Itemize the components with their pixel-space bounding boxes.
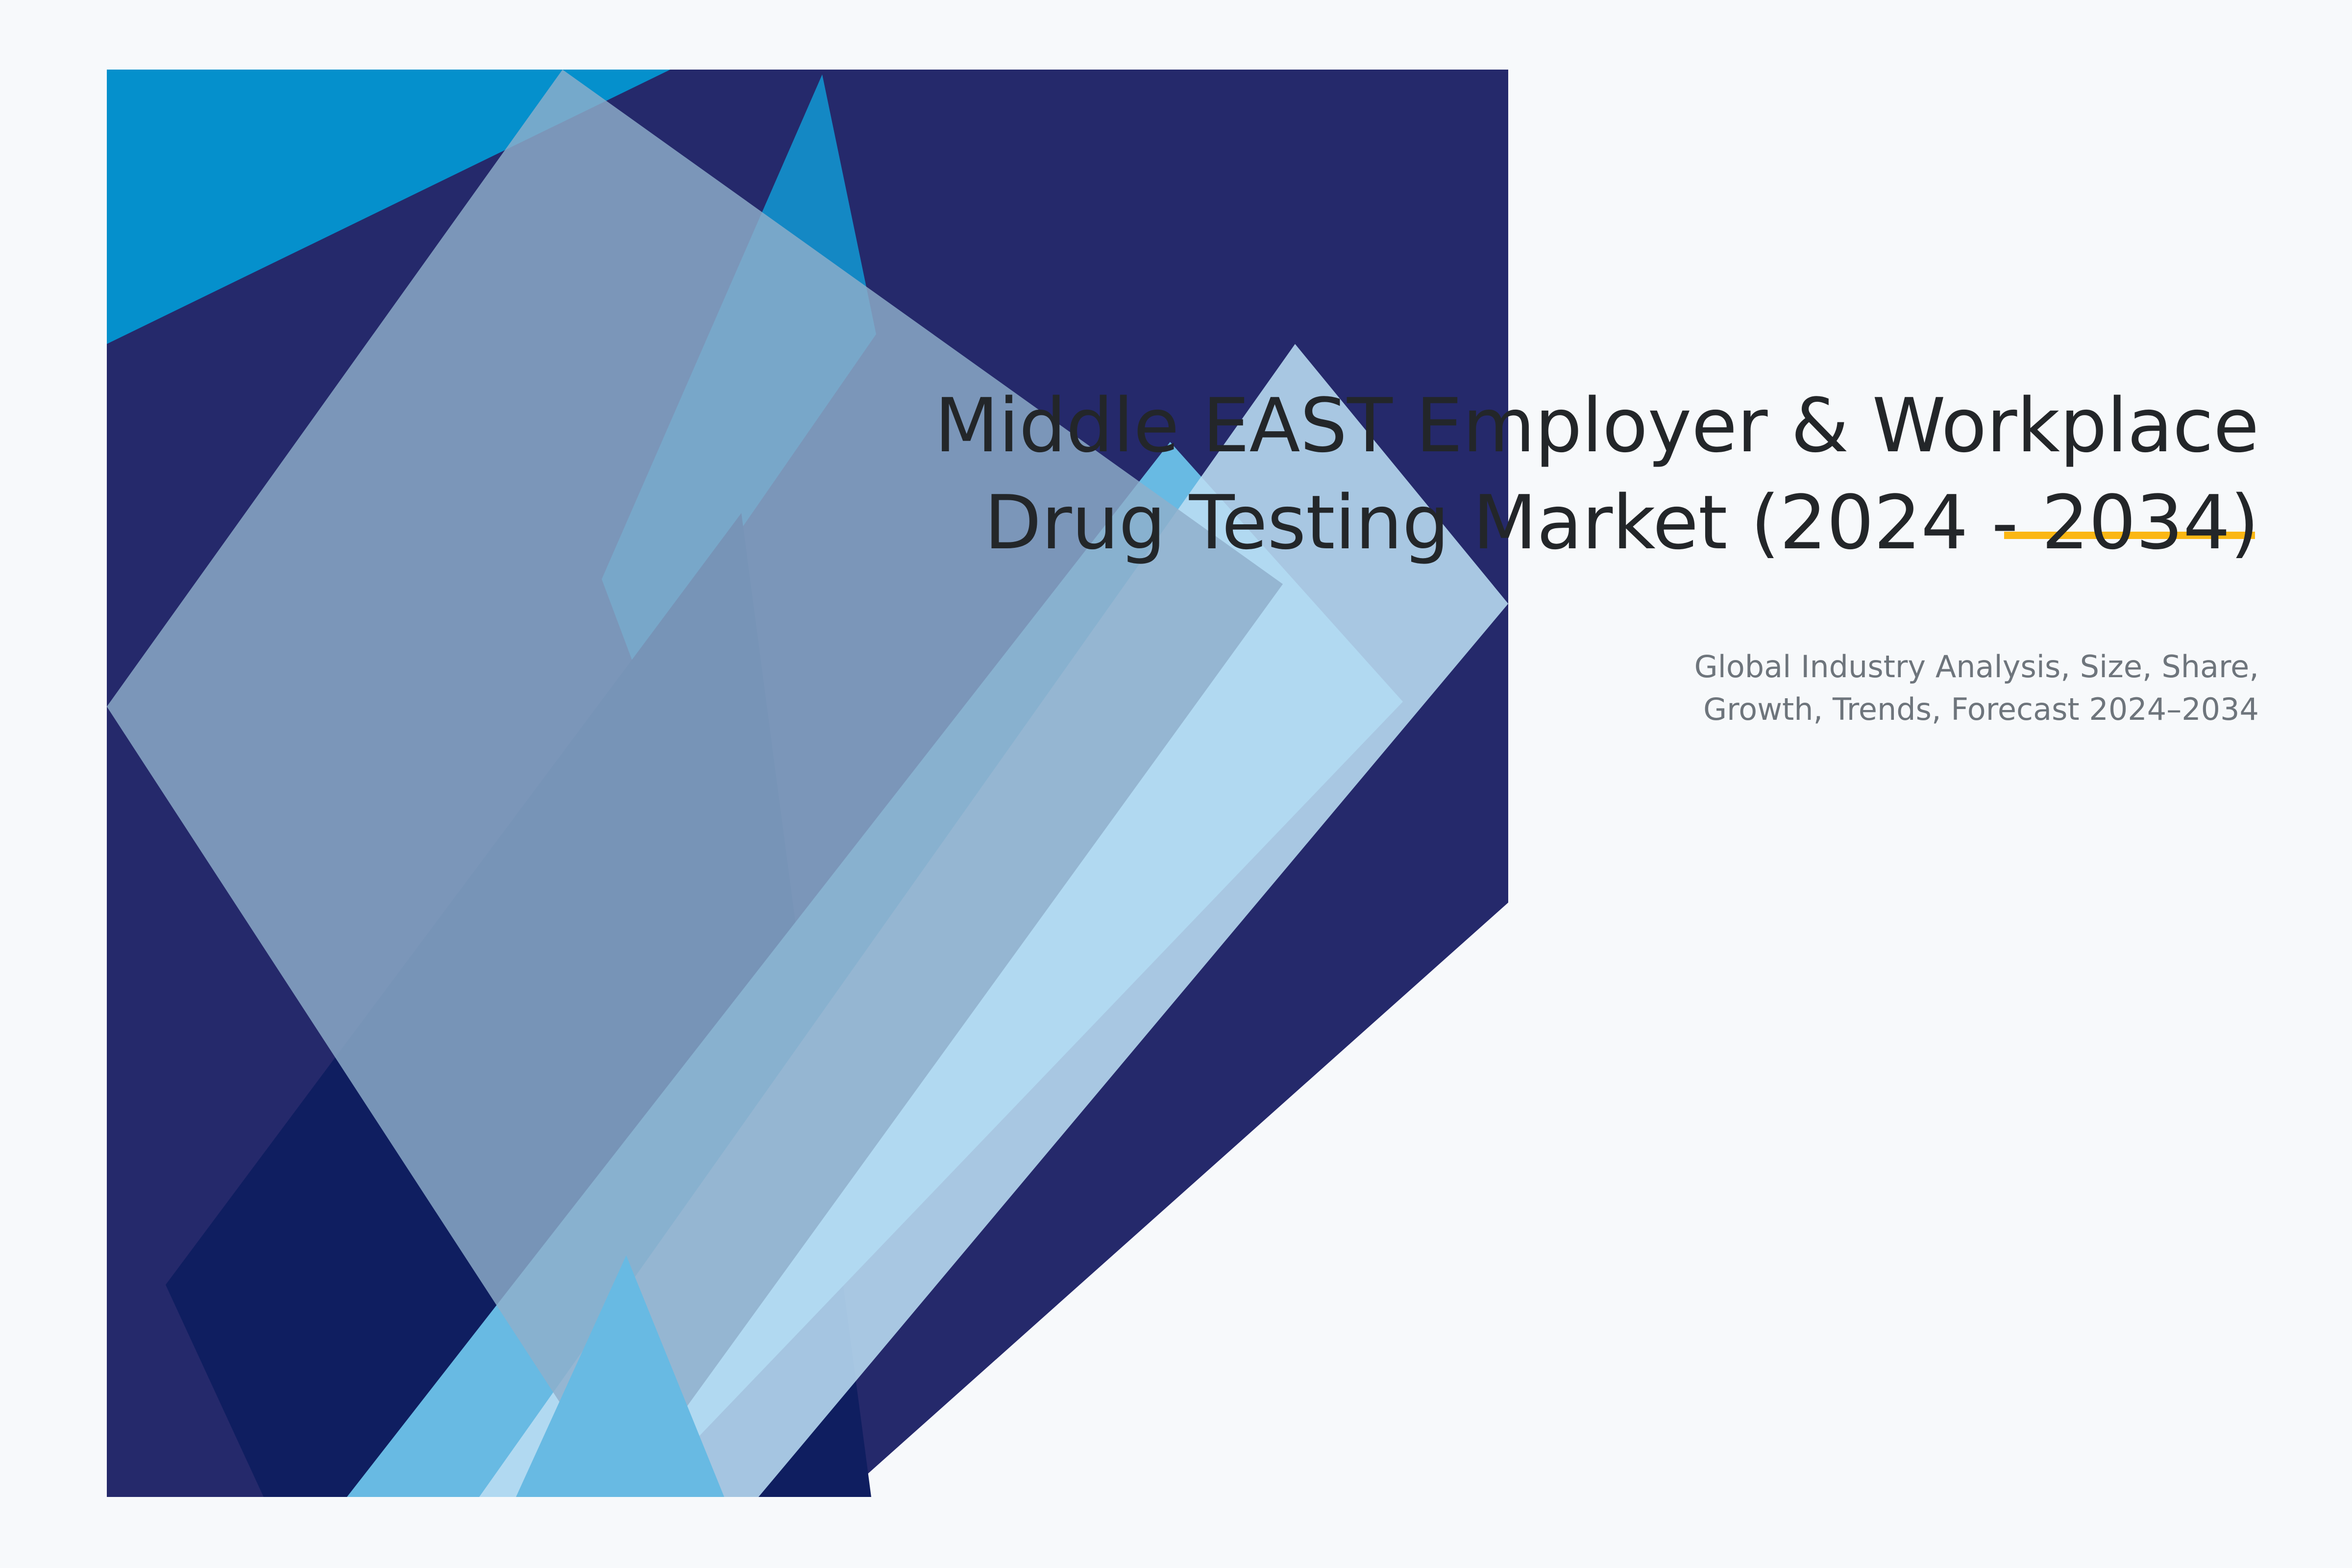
artwork-svg [107, 70, 1508, 1497]
geometric-artwork-panel [107, 70, 1508, 1497]
page-title: Middle EAST Employer & Workplace Drug Te… [735, 377, 2259, 571]
subtitle-block: Global Industry Analysis, Size, Share, G… [1421, 646, 2259, 731]
report-cover: Middle EAST Employer & Workplace Drug Te… [0, 0, 2352, 1568]
title-block: Middle EAST Employer & Workplace Drug Te… [735, 377, 2259, 571]
page-subtitle: Global Industry Analysis, Size, Share, G… [1421, 646, 2259, 731]
